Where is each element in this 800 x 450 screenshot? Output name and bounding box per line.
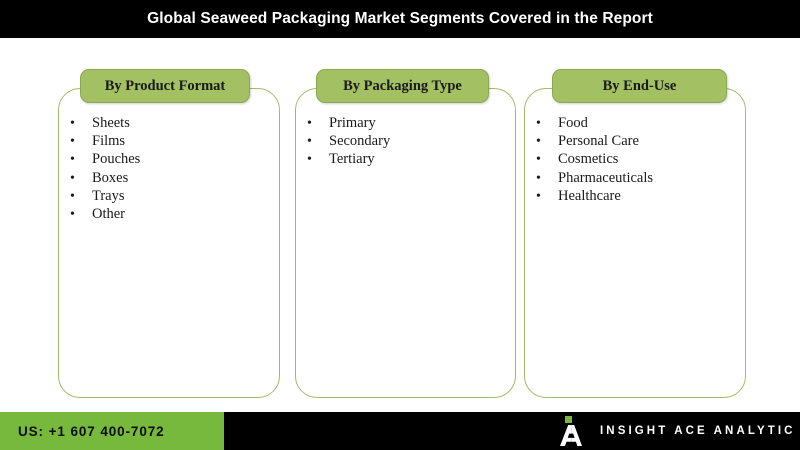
footer-bar: US: +1 607 400-7072 INSIGHT ACE ANALYTIC (0, 412, 800, 450)
list-item-label: Pharmaceuticals (558, 171, 653, 186)
list-item: • Personal Care (536, 134, 653, 152)
bullet-icon: • (70, 172, 92, 186)
footer-phone-label: US: +1 607 400-7072 (0, 424, 165, 439)
list-item: • Primary (307, 116, 390, 134)
segment-card-header-label: By Packaging Type (343, 78, 462, 95)
segment-card-header-label: By End-Use (603, 78, 677, 95)
segment-list-by-product-format: • Sheets • Films • Pouches • Boxes • Tra… (70, 116, 140, 225)
bullet-icon: • (70, 153, 92, 167)
list-item-label: Cosmetics (558, 152, 618, 167)
footer-phone-block[interactable]: US: +1 607 400-7072 (0, 412, 224, 450)
segment-list-by-packaging-type: • Primary • Secondary • Tertiary (307, 116, 390, 171)
list-item-label: Other (92, 207, 125, 222)
list-item-label: Boxes (92, 171, 128, 186)
list-item-label: Healthcare (558, 189, 621, 204)
bullet-icon: • (307, 117, 329, 131)
bullet-icon: • (70, 190, 92, 204)
list-item-label: Secondary (329, 134, 390, 149)
bullet-icon: • (536, 172, 558, 186)
bullet-icon: • (536, 117, 558, 131)
list-item: • Healthcare (536, 189, 653, 207)
list-item: • Cosmetics (536, 152, 653, 170)
segment-list-by-end-use: • Food • Personal Care • Cosmetics • Pha… (536, 116, 653, 207)
title-bar: Global Seaweed Packaging Market Segments… (0, 0, 800, 38)
list-item-label: Personal Care (558, 134, 639, 149)
segment-card-header-by-packaging-type: By Packaging Type (316, 69, 489, 103)
list-item-label: Pouches (92, 152, 140, 167)
list-item-label: Tertiary (329, 152, 375, 167)
list-item: • Boxes (70, 171, 140, 189)
segment-card-header-by-end-use: By End-Use (552, 69, 727, 103)
bullet-icon: • (536, 153, 558, 167)
bullet-icon: • (70, 117, 92, 131)
bullet-icon: • (307, 153, 329, 167)
bullet-icon: • (70, 208, 92, 222)
list-item-label: Trays (92, 189, 125, 204)
bullet-icon: • (70, 135, 92, 149)
list-item: • Food (536, 116, 653, 134)
list-item: • Pouches (70, 152, 140, 170)
page-title: Global Seaweed Packaging Market Segments… (147, 10, 653, 28)
bullet-icon: • (536, 135, 558, 149)
bullet-icon: • (307, 135, 329, 149)
brand-logo: INSIGHT ACE ANALYTIC (556, 412, 796, 450)
insight-ace-a-monogram-icon (556, 415, 582, 447)
segment-card-header-by-product-format: By Product Format (80, 69, 250, 103)
list-item: • Other (70, 207, 140, 225)
list-item-label: Primary (329, 116, 376, 131)
brand-name-label: INSIGHT ACE ANALYTIC (600, 425, 796, 437)
list-item: • Sheets (70, 116, 140, 134)
list-item: • Films (70, 134, 140, 152)
list-item-label: Food (558, 116, 588, 131)
list-item: • Trays (70, 189, 140, 207)
list-item: • Pharmaceuticals (536, 171, 653, 189)
bullet-icon: • (536, 190, 558, 204)
list-item-label: Sheets (92, 116, 130, 131)
list-item-label: Films (92, 134, 125, 149)
list-item: • Secondary (307, 134, 390, 152)
segment-card-header-label: By Product Format (105, 78, 226, 95)
segments-cards-area: By Product Format • Sheets • Films • Pou… (0, 38, 800, 412)
list-item: • Tertiary (307, 152, 390, 170)
